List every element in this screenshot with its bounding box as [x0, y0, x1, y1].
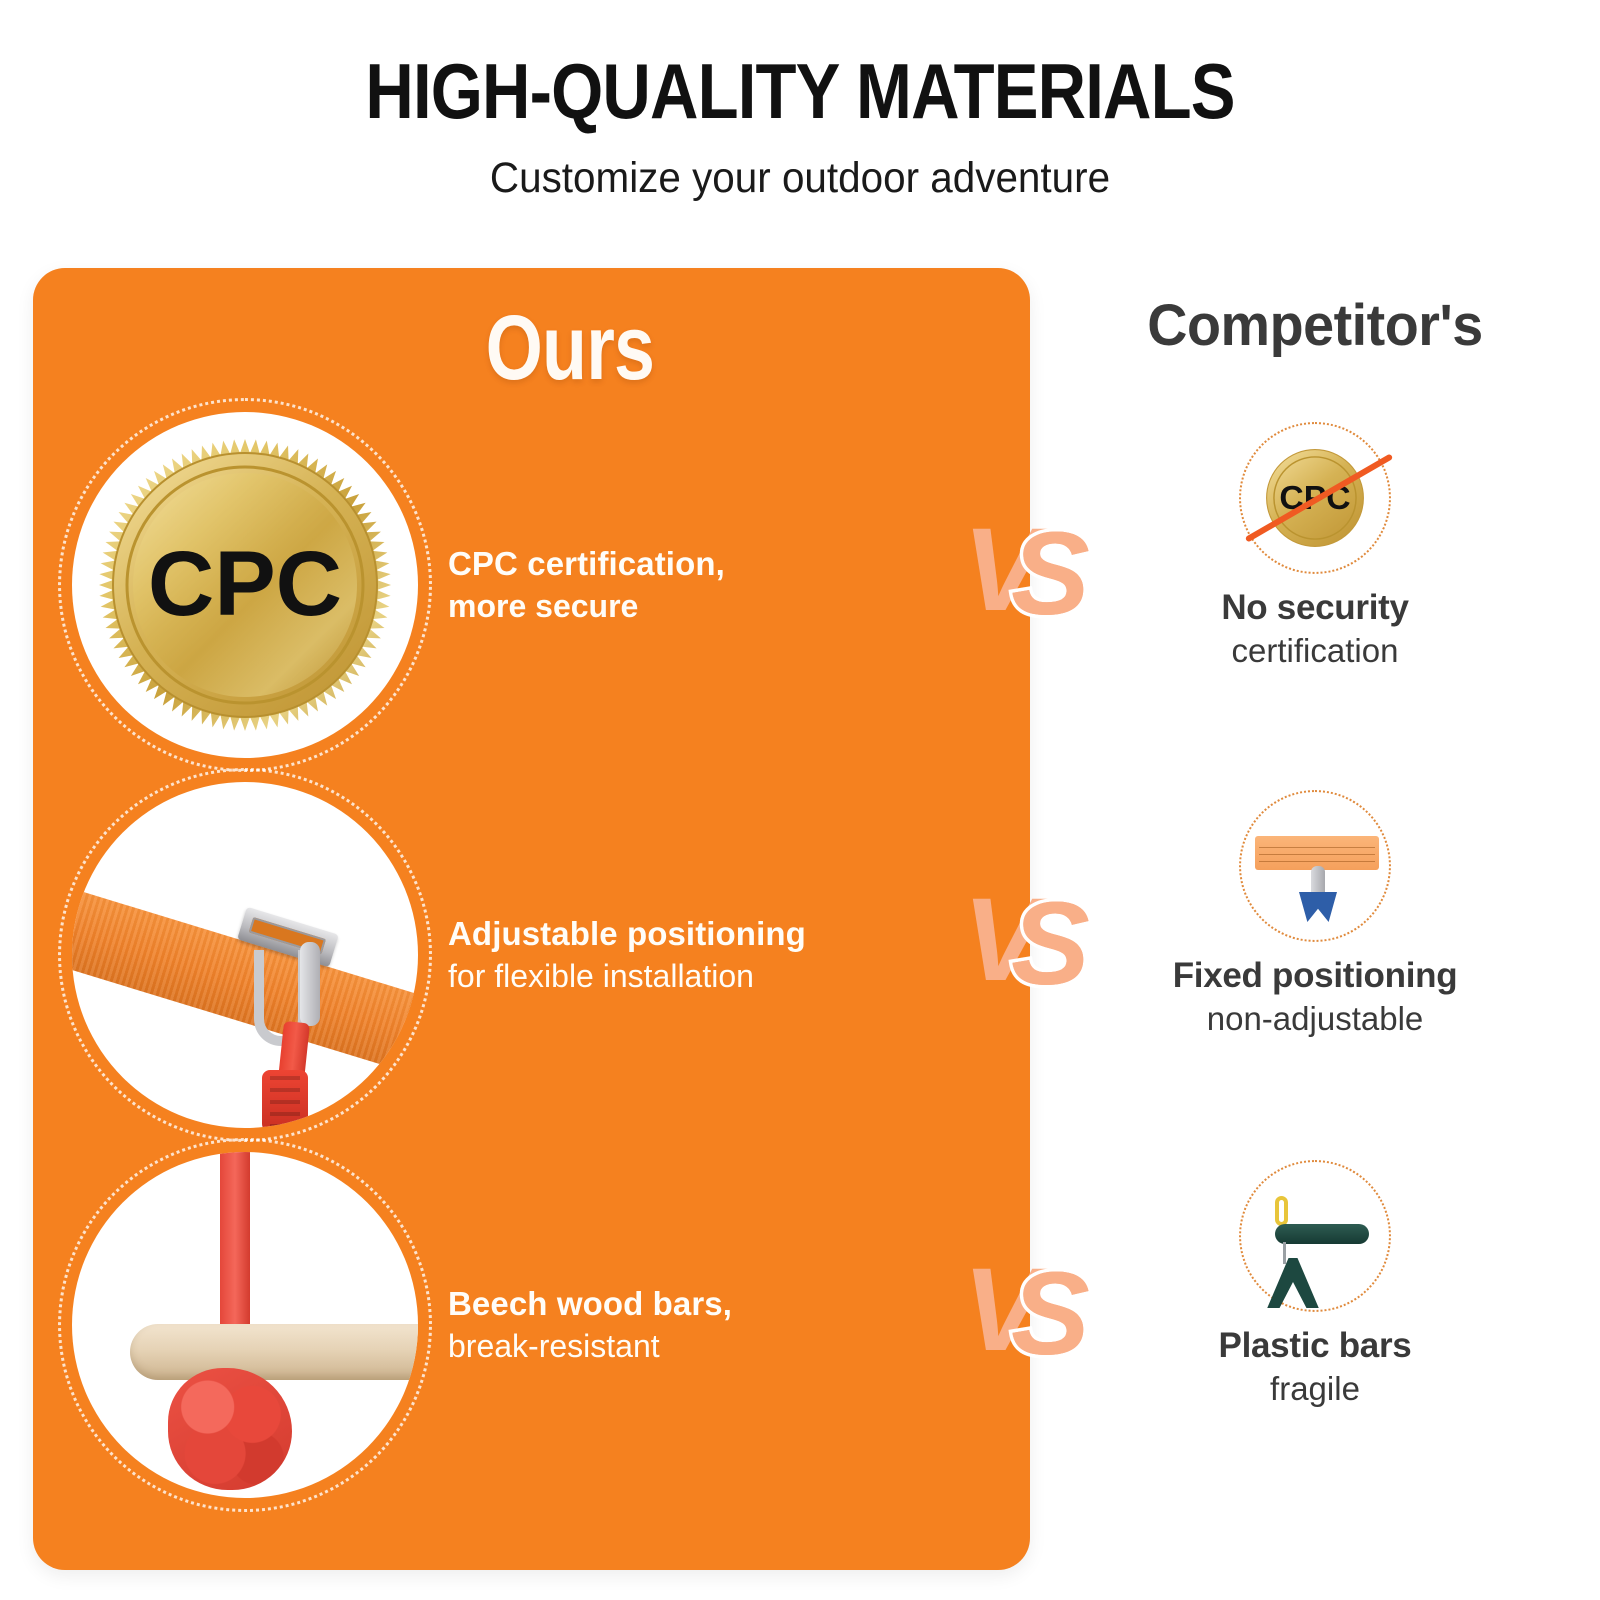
cpc-gold-medal-icon: CPC	[95, 435, 395, 735]
feature-line-1: Adjustable positioning	[448, 913, 948, 956]
competitor-cell-1: CPC No security certification	[1050, 400, 1580, 770]
ours-image-cpc-medal: CPC	[72, 412, 418, 758]
competitor-image-plastic-bar	[1239, 1160, 1391, 1312]
y-bracket-icon	[1265, 1258, 1321, 1308]
page-title: HIGH-QUALITY MATERIALS	[112, 52, 1488, 130]
infographic-page: HIGH-QUALITY MATERIALS Customize your ou…	[0, 0, 1600, 1600]
ours-feature-text-3: Beech wood bars, break-resistant	[448, 1140, 948, 1510]
rope-grip-icon	[262, 1070, 308, 1128]
competitor-line-2: non-adjustable	[1207, 1000, 1424, 1038]
fixed-strap-icon	[1255, 836, 1379, 870]
competitor-image-crossed-cpc: CPC	[1239, 422, 1391, 574]
competitor-image-fixed-strap	[1239, 790, 1391, 942]
rope-knot-icon	[168, 1368, 292, 1490]
competitor-cell-2: Fixed positioning non-adjustable	[1050, 770, 1580, 1140]
wire-icon	[1283, 1242, 1286, 1264]
carabiner-gate-icon	[300, 942, 320, 1026]
feature-line-2: for flexible installation	[448, 956, 948, 998]
competitor-line-2: certification	[1232, 632, 1399, 670]
plastic-bar-icon	[1275, 1224, 1369, 1244]
page-subtitle: Customize your outdoor adventure	[48, 154, 1552, 203]
beech-wood-bar-icon	[130, 1324, 418, 1380]
ours-title: Ours	[171, 302, 969, 394]
competitor-title: Competitor's	[1061, 292, 1570, 359]
red-rope-icon	[220, 1152, 250, 1342]
ours-image-strap-carabiner	[72, 782, 418, 1128]
competitor-line-1: Plastic bars	[1219, 1326, 1412, 1366]
blue-plastic-bracket-icon	[1299, 892, 1337, 922]
ours-feature-text-2: Adjustable positioning for flexible inst…	[448, 770, 948, 1140]
yellow-carabiner-icon	[1275, 1196, 1288, 1226]
feature-line-2: more secure	[448, 586, 948, 628]
ours-feature-text-1: CPC certification, more secure	[448, 400, 948, 770]
feature-line-1: CPC certification,	[448, 543, 948, 586]
competitor-line-2: fragile	[1270, 1370, 1360, 1408]
comparison-row-1: CPC CPC certification, more secure V S S…	[0, 400, 1600, 770]
competitor-line-1: Fixed positioning	[1173, 956, 1458, 996]
comparison-row-3: Beech wood bars, break-resistant V S S P…	[0, 1140, 1600, 1510]
comparison-row-2: Adjustable positioning for flexible inst…	[0, 770, 1600, 1140]
competitor-line-1: No security	[1221, 588, 1408, 628]
header: HIGH-QUALITY MATERIALS Customize your ou…	[0, 0, 1600, 203]
ours-image-wood-bar	[72, 1152, 418, 1498]
competitor-cell-3: Plastic bars fragile	[1050, 1140, 1580, 1510]
svg-text:CPC: CPC	[148, 533, 342, 635]
feature-line-1: Beech wood bars,	[448, 1283, 948, 1326]
feature-line-2: break-resistant	[448, 1326, 948, 1368]
